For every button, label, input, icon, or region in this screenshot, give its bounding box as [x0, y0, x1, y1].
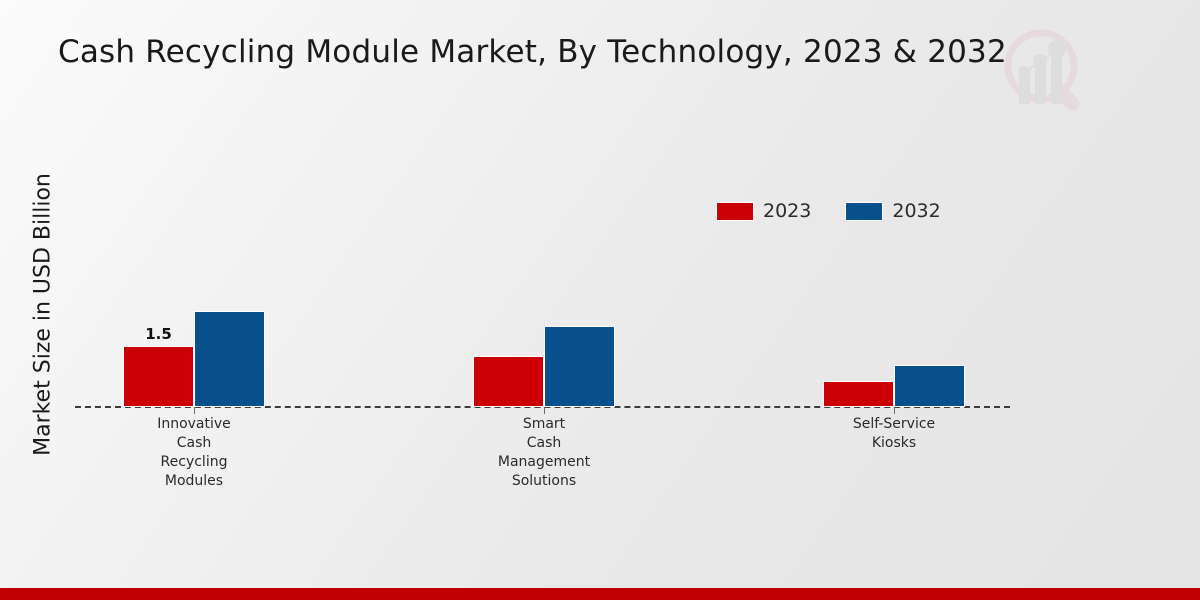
bar-2023-smart-cash-management-solutions[interactable] [473, 356, 544, 407]
chart-canvas: Cash Recycling Module Market, By Technol… [0, 0, 1200, 600]
category-label-line: Recycling [104, 453, 284, 472]
category-label-line: Self-Service [804, 415, 984, 434]
category-label-line: Smart [454, 415, 634, 434]
category-label-line: Cash [104, 434, 284, 453]
bar-value-label-2023-innovative: 1.5 [123, 325, 194, 343]
category-label-line: Management [454, 453, 634, 472]
category-label-line: Cash [454, 434, 634, 453]
bottom-accent-band [0, 588, 1200, 600]
category-label-line: Innovative [104, 415, 284, 434]
category-label-innovative-cash-recycling-modules: Innovative Cash Recycling Modules [104, 415, 284, 491]
category-label-line: Solutions [454, 472, 634, 491]
category-label-smart-cash-management-solutions: Smart Cash Management Solutions [454, 415, 634, 491]
bar-2023-innovative-cash-recycling-modules[interactable] [123, 346, 194, 407]
bar-2032-self-service-kiosks[interactable] [894, 365, 965, 407]
axis-tick-1 [544, 407, 545, 414]
bar-2032-smart-cash-management-solutions[interactable] [544, 326, 615, 407]
bar-2032-innovative-cash-recycling-modules[interactable] [194, 311, 265, 407]
plot-area: 1.5 Innovative Cash Recycling Modules Sm… [0, 0, 1200, 600]
category-label-line: Modules [104, 472, 284, 491]
category-label-self-service-kiosks: Self-Service Kiosks [804, 415, 984, 453]
bar-2023-self-service-kiosks[interactable] [823, 381, 894, 407]
category-label-line: Kiosks [804, 434, 984, 453]
axis-tick-0 [194, 407, 195, 414]
axis-tick-2 [894, 407, 895, 414]
